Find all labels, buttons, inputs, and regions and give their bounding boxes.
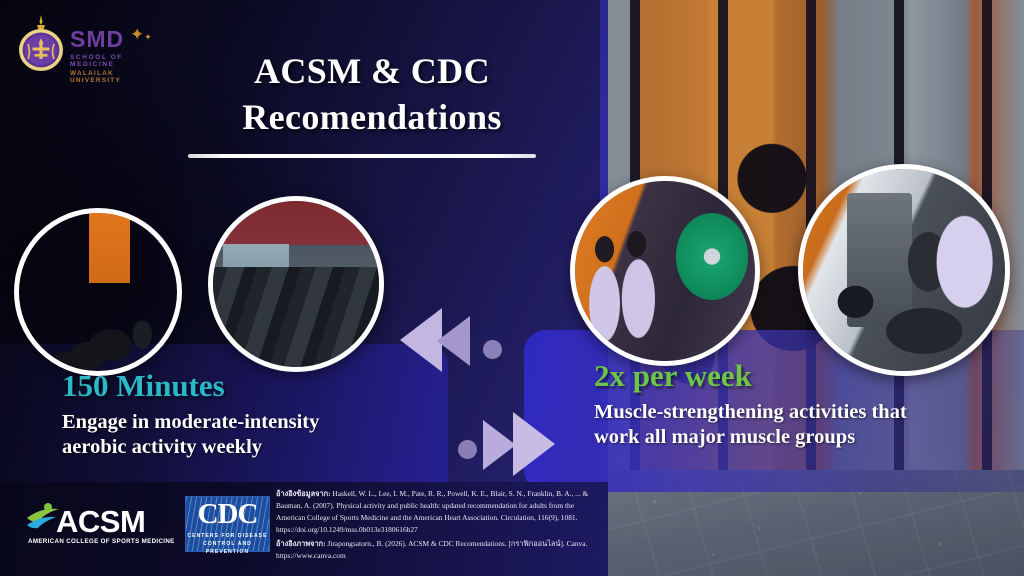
photo-core-training-class bbox=[14, 208, 182, 376]
left-recommendation-body: Engage in moderate-intensity aerobic act… bbox=[62, 410, 462, 462]
citation-data-doi[interactable]: https://doi.org/10.1249/mss.0b013e318061… bbox=[276, 524, 594, 536]
left-recommendation-body-line2: aerobic activity weekly bbox=[62, 435, 462, 461]
right-recommendation-heading: 2x per week bbox=[594, 360, 1014, 393]
walailak-university-crest-icon bbox=[16, 14, 66, 72]
photo-leg-press-machine bbox=[798, 164, 1010, 376]
photo-barbell-squat-coaching bbox=[570, 176, 760, 366]
sparkle-icon: ✦✦ bbox=[130, 26, 152, 43]
photo-leg-press-machine-image bbox=[803, 169, 1005, 371]
right-recommendation-body-line2: work all major muscle groups bbox=[594, 425, 1014, 451]
arrow-left-small-icon bbox=[437, 316, 470, 366]
citation-image: อ้างอิงภาพจาก: Jirapongsatorn., B. (2026… bbox=[276, 538, 594, 562]
arrow-left-large-icon bbox=[400, 308, 442, 372]
left-recommendation-heading: 150 Minutes bbox=[62, 370, 462, 403]
photo-core-training-class-image bbox=[19, 213, 177, 371]
photo-treadmill-row bbox=[208, 196, 384, 372]
page-title-line2: Recomendations bbox=[172, 94, 572, 140]
title-divider-rule bbox=[188, 154, 536, 158]
decorative-dot-upper bbox=[483, 340, 502, 359]
smd-subtitle-university: WALAILAK UNIVERSITY bbox=[70, 70, 154, 84]
cdc-tagline-line2: CONTROL AND PREVENTION bbox=[203, 541, 252, 555]
page-title-line1: ACSM & CDC bbox=[172, 48, 572, 94]
cdc-logo: CDC CENTERS FOR DISEASE CONTROL AND PREV… bbox=[185, 496, 270, 552]
cdc-tagline-line1: CENTERS FOR DISEASE bbox=[187, 533, 267, 539]
right-recommendation-body: Muscle-strengthening activities that wor… bbox=[594, 400, 1014, 452]
smd-logo: SMD SCHOOL OF MEDICINE WALAILAK UNIVERSI… bbox=[14, 12, 154, 74]
citation-data-label: อ้างอิงข้อมูลจาก: bbox=[276, 489, 331, 498]
photo-barbell-squat-coaching-image bbox=[575, 181, 755, 361]
page-title: ACSM & CDC Recomendations bbox=[172, 48, 572, 140]
right-recommendation-body-line1: Muscle-strengthening activities that bbox=[594, 400, 1014, 426]
citation-data: อ้างอิงข้อมูลจาก: Haskell, W. L., Lee, I… bbox=[276, 488, 594, 536]
acsm-tagline: AMERICAN COLLEGE OF SPORTS MEDICINE bbox=[28, 538, 175, 545]
arrow-right-small-icon bbox=[483, 420, 516, 470]
arrow-right-large-icon bbox=[513, 412, 555, 476]
poster-canvas: SMD SCHOOL OF MEDICINE WALAILAK UNIVERSI… bbox=[0, 0, 1024, 576]
acsm-logo: ACSM AMERICAN COLLEGE OF SPORTS MEDICINE bbox=[26, 500, 174, 548]
photo-treadmill-row-image bbox=[213, 201, 379, 367]
smd-subtitle-school: SCHOOL OF MEDICINE bbox=[70, 54, 154, 68]
acsm-wordmark: ACSM bbox=[56, 504, 145, 540]
right-recommendation: 2x per week Muscle-strengthening activit… bbox=[594, 360, 1014, 451]
cdc-wordmark: CDC bbox=[186, 498, 269, 531]
left-recommendation-body-line1: Engage in moderate-intensity bbox=[62, 410, 462, 436]
citation-image-label: อ้างอิงภาพจาก: bbox=[276, 539, 326, 548]
cdc-tagline: CENTERS FOR DISEASE CONTROL AND PREVENTI… bbox=[186, 533, 269, 556]
left-recommendation: 150 Minutes Engage in moderate-intensity… bbox=[62, 370, 462, 461]
citations-block: อ้างอิงข้อมูลจาก: Haskell, W. L., Lee, I… bbox=[276, 488, 594, 564]
